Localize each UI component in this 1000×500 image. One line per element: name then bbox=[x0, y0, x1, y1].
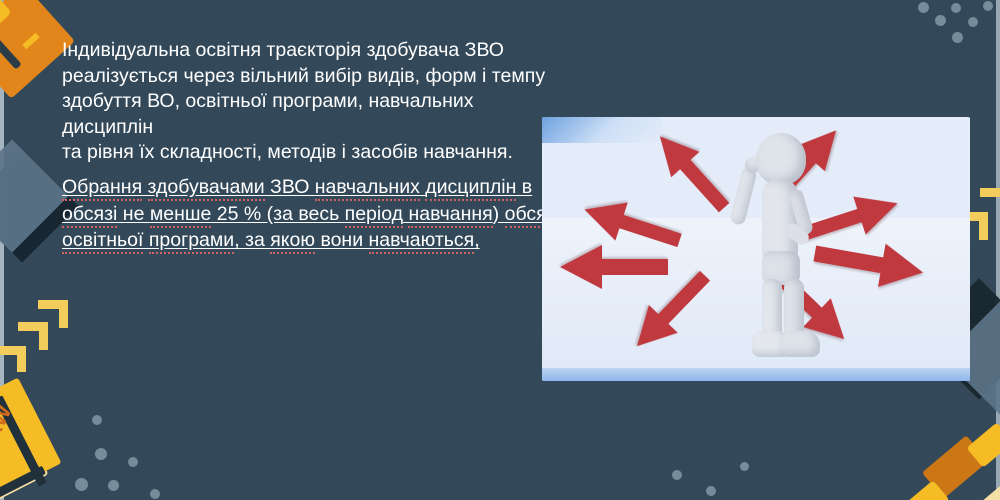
spellchecked-word: якою bbox=[270, 229, 315, 254]
paragraph-2-run: , за bbox=[234, 229, 270, 251]
right-edge-strip bbox=[996, 0, 1000, 500]
spellchecked-word: навчання bbox=[408, 203, 492, 228]
paragraph-1-text: Індивідуальна освітня траєкторія здобува… bbox=[62, 38, 562, 166]
dot-icon bbox=[672, 470, 682, 480]
dot-icon bbox=[108, 480, 119, 491]
law-book-icon: LAW bbox=[0, 382, 96, 500]
paragraph-2-text: Обрання здобувачами ЗВО навчальних дисци… bbox=[62, 174, 582, 254]
dot-icon bbox=[918, 2, 929, 13]
chevron-group-left-icon bbox=[8, 300, 98, 370]
paragraph-1-block: Індивідуальна освітня траєкторія здобува… bbox=[62, 38, 562, 166]
photo-bottom-band bbox=[542, 368, 970, 381]
spellchecked-word: навчальних bbox=[315, 176, 420, 201]
spellchecked-word: дисциплін bbox=[425, 176, 516, 201]
dot-icon bbox=[150, 489, 160, 499]
left-edge-strip bbox=[0, 0, 4, 500]
paragraph-2-run: вони bbox=[315, 229, 368, 251]
diamond-left-icon bbox=[0, 139, 69, 252]
illustration-photo bbox=[542, 117, 970, 381]
dot-icon bbox=[983, 1, 993, 11]
dot-icon bbox=[95, 448, 107, 460]
dot-icon bbox=[740, 462, 749, 471]
spellchecked-word: освітньої bbox=[62, 229, 143, 254]
dot-icon bbox=[75, 478, 88, 491]
spellchecked-word: здобувачами bbox=[148, 176, 265, 201]
paragraph-2-run bbox=[142, 176, 147, 198]
spellchecked-word: програми bbox=[149, 229, 234, 254]
dot-icon bbox=[935, 15, 946, 26]
dot-icon bbox=[951, 3, 961, 13]
dot-icon bbox=[92, 415, 102, 425]
spellchecked-word: менше bbox=[150, 203, 212, 228]
paragraph-2-run: ) bbox=[493, 203, 505, 225]
paragraph-2-run: ЗВО bbox=[265, 176, 315, 198]
dot-icon bbox=[952, 32, 963, 43]
photo-corner-gradient bbox=[542, 117, 662, 143]
gavel-icon bbox=[868, 394, 1000, 500]
paragraph-2-run: , bbox=[474, 229, 479, 251]
paragraph-2-run: не bbox=[117, 203, 149, 225]
paragraph-2-block: Обрання здобувачами ЗВО навчальних дисци… bbox=[62, 174, 582, 254]
dot-icon bbox=[706, 486, 716, 496]
spellchecked-word: Обрання bbox=[62, 176, 142, 201]
dot-icon bbox=[968, 17, 978, 27]
spellchecked-word: обсязі bbox=[62, 203, 117, 228]
paragraph-2-run: 25 % (за весь bbox=[211, 203, 344, 225]
paragraph-2-run: в bbox=[516, 176, 532, 198]
spellchecked-word: навчаються bbox=[369, 229, 475, 254]
figure-3d-person bbox=[718, 131, 838, 367]
spellchecked-word: період bbox=[345, 203, 403, 228]
slide-canvas: LAW Індивідуальна освітня траєкторія здо… bbox=[0, 0, 1000, 500]
dot-icon bbox=[128, 457, 138, 467]
